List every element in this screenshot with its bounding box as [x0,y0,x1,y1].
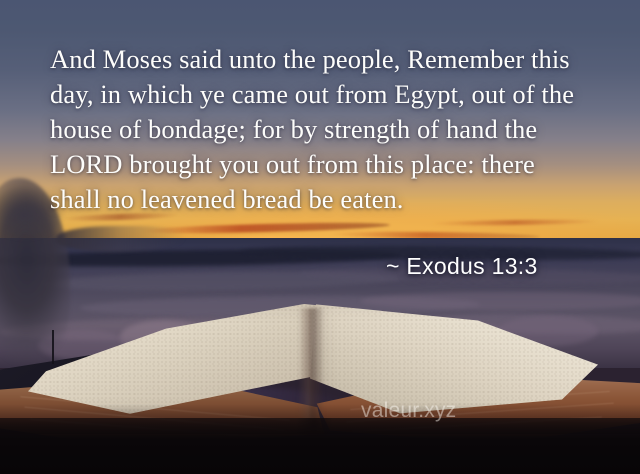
watermark: valeur.xyz [361,399,456,423]
verse-attribution: ~ Exodus 13:3 [386,253,538,280]
table-surface [0,418,640,474]
quote-image: And Moses said unto the people, Remember… [0,0,640,474]
verse-text: And Moses said unto the people, Remember… [50,42,590,217]
